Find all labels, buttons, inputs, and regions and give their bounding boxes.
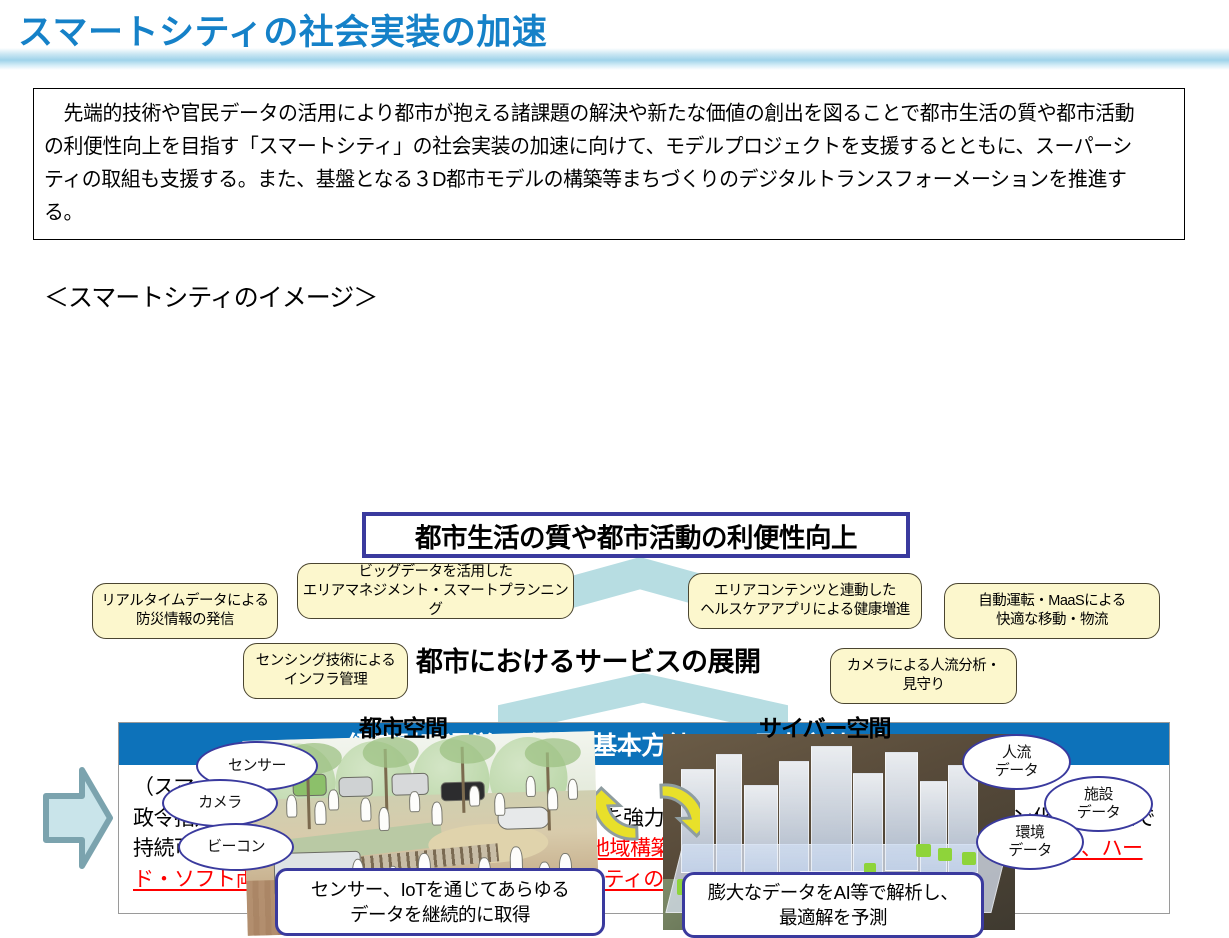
tag-label: エリアコンテンツと連動したヘルスケアアプリによる健康増進 [700, 582, 910, 620]
service-tag-sensing[interactable]: センシング技術によるインフラ管理 [243, 643, 408, 699]
goal-banner: 都市生活の質や都市活動の利便性向上 [362, 512, 910, 558]
services-heading: 都市におけるサービスの展開 [416, 640, 761, 679]
service-tag-bigdata[interactable]: ビッグデータを活用したエリアマネジメント・スマートプランニング [297, 563, 574, 619]
data-cycle-arrows-icon [596, 771, 700, 871]
urban-caption-text: センサー、IoTを通じてあらゆるデータを継続的に取得 [311, 877, 570, 927]
bubble-label: ビーコン [207, 838, 265, 856]
service-tag-mobility[interactable]: 自動運転・MaaSによる快適な移動・物流 [944, 583, 1160, 639]
tag-label: センシング技術によるインフラ管理 [256, 652, 396, 690]
diagram-label: ＜スマートシティのイメージ＞ [44, 278, 377, 314]
smart-city-diagram: ＜スマートシティのイメージ＞ 都市生活の質や都市活動の利便性向上 都市におけるサ… [0, 248, 1229, 713]
cyber-caption-box: 膨大なデータをAI等で解析し、最適解を予測 [682, 872, 984, 938]
cyber-space-label: サイバー空間 [759, 709, 891, 743]
cyber-caption-text: 膨大なデータをAI等で解析し、最適解を予測 [708, 880, 958, 930]
tag-label: 自動運転・MaaSによる快適な移動・物流 [978, 592, 1125, 630]
urban-caption-box: センサー、IoTを通じてあらゆるデータを継続的に取得 [275, 868, 605, 936]
bubble-label: 施設データ [1077, 786, 1121, 822]
tag-label: ビッグデータを活用したエリアマネジメント・スマートプランニング [298, 563, 573, 620]
bubble-label: 環境データ [1008, 824, 1052, 860]
summary-box: 先端的技術や官民データの活用により都市が抱える諸課題の解決や新たな価値の創出を図… [33, 88, 1185, 240]
right-block-arrow-icon [42, 766, 114, 870]
bubble-beacon: ビーコン [178, 823, 294, 871]
tag-label: カメラによる人流分析・見守り [847, 657, 1001, 695]
goal-banner-text: 都市生活の質や都市活動の利便性向上 [415, 516, 857, 555]
title-divider [0, 48, 1229, 70]
service-tag-realtime[interactable]: リアルタイムデータによる防災情報の発信 [92, 583, 278, 639]
service-tag-health[interactable]: エリアコンテンツと連動したヘルスケアアプリによる健康増進 [688, 573, 922, 629]
bubble-label: 人流データ [995, 744, 1039, 780]
bubble-environment-data: 環境データ [976, 814, 1084, 870]
bubble-label: センサー [228, 757, 286, 775]
bubble-people-flow-data: 人流データ [962, 734, 1071, 790]
bubble-label: カメラ [198, 794, 242, 812]
tag-label: リアルタイムデータによる防災情報の発信 [101, 592, 268, 630]
bubble-camera: カメラ [162, 779, 278, 827]
summary-text: 先端的技術や官民データの活用により都市が抱える諸課題の解決や新たな価値の創出を図… [44, 97, 1142, 229]
service-tag-camera[interactable]: カメラによる人流分析・見守り [830, 648, 1017, 704]
urban-space-label: 都市空間 [359, 709, 447, 743]
slide-title-bar: スマートシティの社会実装の加速 [0, 0, 1229, 72]
